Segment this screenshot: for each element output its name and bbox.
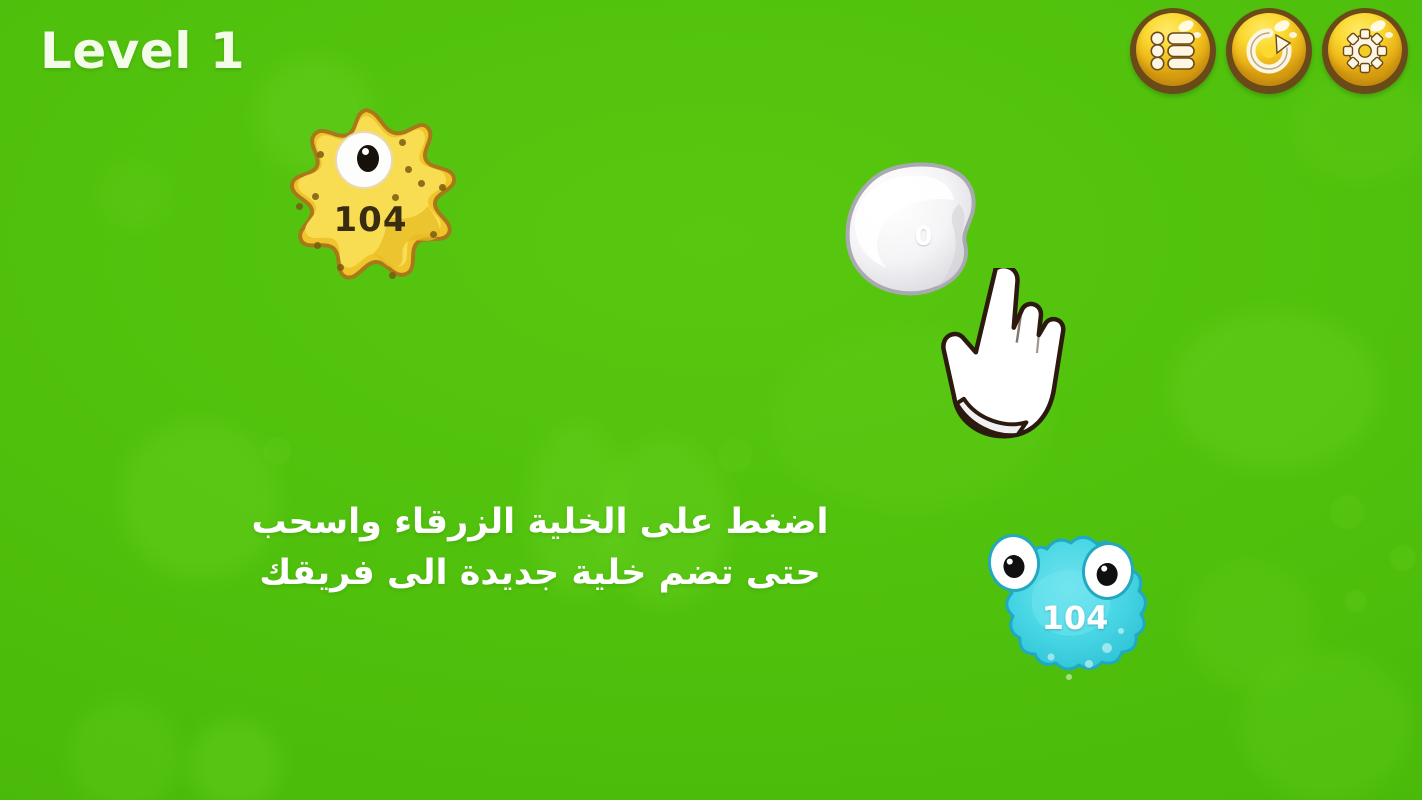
white-cell-body bbox=[841, 160, 1006, 305]
cell-speck bbox=[314, 242, 321, 249]
gear-icon bbox=[1341, 27, 1389, 75]
yellow-enemy-cell[interactable]: 104 bbox=[268, 106, 473, 301]
bubble bbox=[1345, 590, 1367, 612]
instruction-text: اضغط على الخلية الزرقاء واسحب حتى تضم خل… bbox=[0, 497, 1080, 599]
cell-speck bbox=[418, 180, 425, 187]
cell-speck bbox=[337, 264, 344, 271]
levels-list-button[interactable] bbox=[1130, 8, 1216, 94]
bubble bbox=[190, 720, 280, 800]
cell-pupil-right bbox=[1095, 562, 1118, 587]
bubble bbox=[718, 438, 752, 472]
cell-speck bbox=[392, 194, 399, 201]
bubble bbox=[1390, 545, 1416, 571]
settings-button[interactable] bbox=[1322, 8, 1408, 94]
cell-eye bbox=[335, 131, 393, 189]
cell-speck bbox=[399, 139, 406, 146]
bubble bbox=[100, 160, 170, 230]
cell-speck bbox=[439, 184, 446, 191]
restart-button[interactable] bbox=[1226, 8, 1312, 94]
cell-speck bbox=[405, 166, 412, 173]
neutral-white-cell[interactable]: 0 bbox=[841, 160, 1006, 305]
bubble bbox=[1330, 495, 1364, 529]
list-icon bbox=[1150, 31, 1196, 71]
cell-speck bbox=[430, 231, 437, 238]
instruction-line-2: حتى تضم خلية جديدة الى فريقك bbox=[0, 548, 1080, 599]
bubble bbox=[70, 700, 180, 800]
background-bubbles bbox=[0, 0, 1422, 800]
game-screen: Level 1 bbox=[0, 0, 1422, 800]
bubble bbox=[770, 330, 1050, 510]
cell-pupil bbox=[357, 145, 379, 172]
bubble bbox=[1240, 650, 1410, 800]
page-title: Level 1 bbox=[40, 22, 245, 80]
restart-icon bbox=[1246, 28, 1292, 74]
instruction-line-1: اضغط على الخلية الزرقاء واسحب bbox=[0, 497, 1080, 548]
cell-speck bbox=[389, 272, 396, 279]
bubble bbox=[1185, 560, 1315, 690]
bubble bbox=[263, 437, 291, 465]
cell-speck bbox=[296, 203, 303, 210]
bubble bbox=[1170, 310, 1380, 470]
toolbar bbox=[1130, 8, 1408, 94]
cell-speck bbox=[317, 151, 324, 158]
cell-speck bbox=[312, 193, 319, 200]
